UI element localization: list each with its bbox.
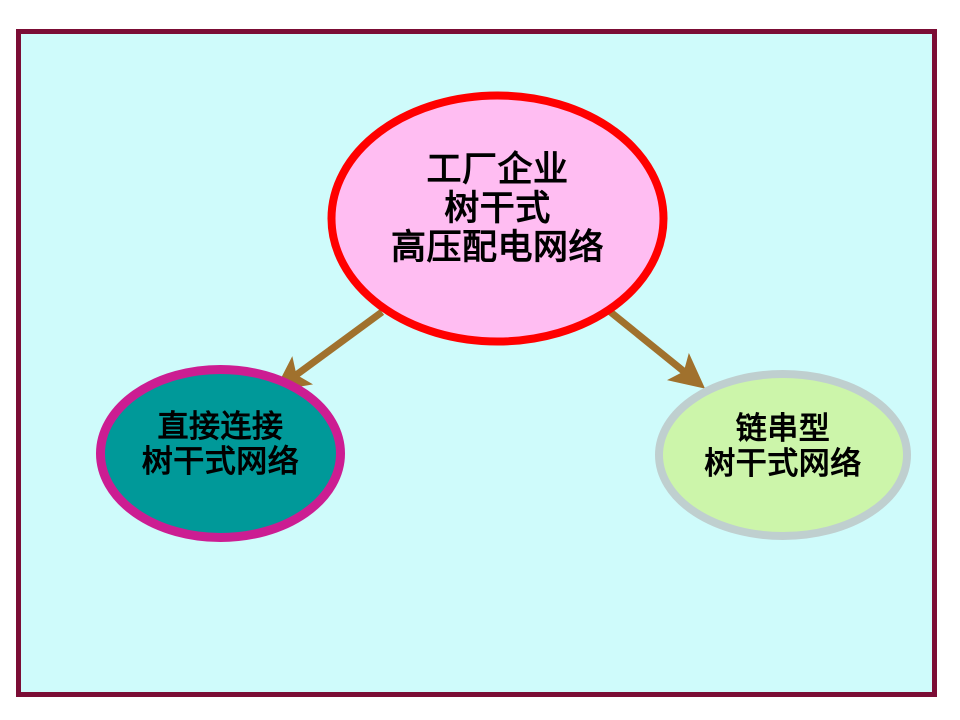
connector-root-to-chain — [608, 310, 692, 378]
slide-canvas: 工厂企业 树干式 高压配电网络 直接连接 树干式网络 链串型 树干式网络 — [0, 0, 960, 720]
node-root-ellipse[interactable] — [332, 96, 664, 342]
diagram-graphic — [0, 0, 960, 720]
connector-root-to-direct — [288, 312, 382, 381]
node-chain-ellipse[interactable] — [659, 374, 907, 536]
node-direct-ellipse[interactable] — [101, 370, 341, 538]
